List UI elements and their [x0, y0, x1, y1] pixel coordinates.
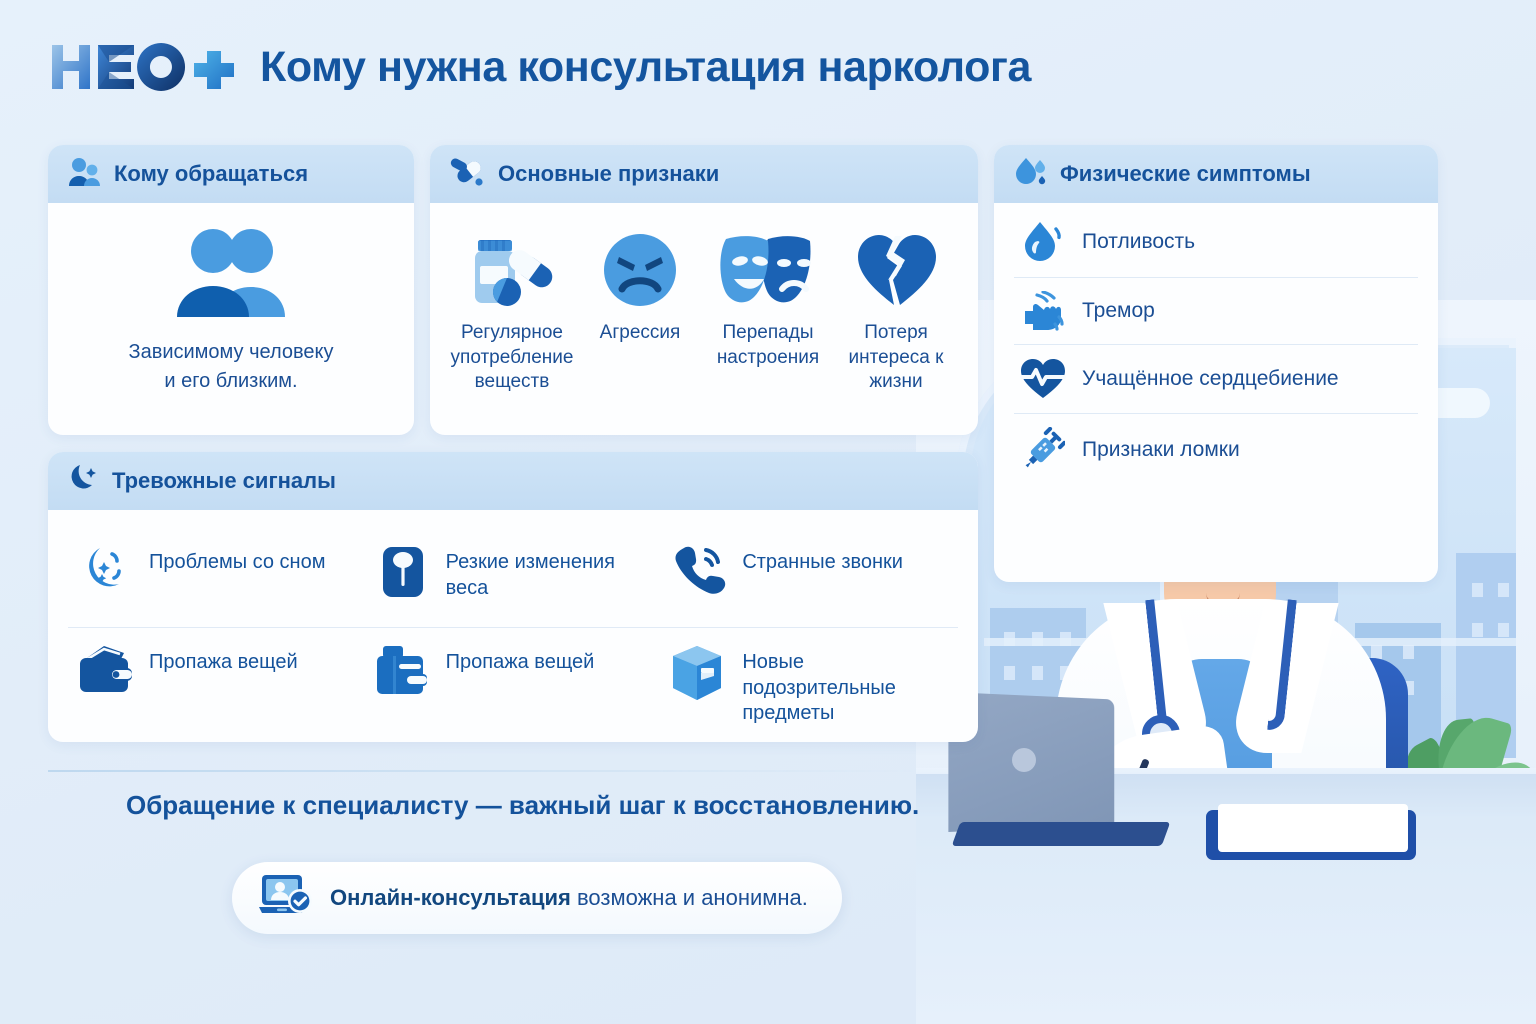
- sign-label: Потеря интереса к жизни: [834, 321, 958, 395]
- card-title: Кому обращаться: [114, 161, 308, 187]
- card-header: Основные признаки: [430, 145, 978, 203]
- shaking-hand-icon: [1020, 291, 1066, 331]
- symptom-label: Потливость: [1082, 229, 1195, 255]
- badge-label-rest: возможна и анонимна.: [571, 885, 808, 910]
- sign-label: Регулярное употребление веществ: [450, 321, 574, 395]
- sign-item: Регулярное употребление веществ: [450, 227, 574, 395]
- office-chair: [1212, 658, 1408, 848]
- wallet-icon: [76, 642, 136, 696]
- moon-icon: [68, 463, 100, 500]
- plant-leaf: [1450, 747, 1536, 844]
- pill-bottle-icon: [466, 227, 558, 313]
- window-mullion: [984, 638, 1516, 646]
- stethoscope-icon: [1267, 599, 1297, 732]
- purse-icon: [373, 642, 433, 698]
- city-building: [990, 608, 1086, 758]
- laptop-logo: [1012, 748, 1036, 772]
- warning-item: Резкие изменения веса: [365, 528, 662, 628]
- theatre-masks-icon: [718, 227, 818, 313]
- signs-grid: Регулярное употребление веществ Агрессия: [450, 221, 958, 395]
- symptom-row: Тремор: [1014, 278, 1418, 345]
- page-title: Кому нужна консультация нарколога: [260, 43, 1031, 92]
- symptom-label: Признаки ломки: [1082, 437, 1240, 463]
- broken-heart-icon: [854, 227, 938, 313]
- page-header: Кому нужна консультация нарколога: [48, 36, 1031, 98]
- warning-label: Пропажа вещей: [446, 642, 595, 676]
- symptom-row: Учащённое сердцебиение: [1014, 345, 1418, 414]
- pen-icon: [1117, 758, 1150, 826]
- card-who-to-contact: Кому обращаться Зависимому человеку и ег…: [48, 145, 414, 435]
- card-text: Зависимому человеку и его близким.: [129, 338, 334, 396]
- wristwatch-icon: [1256, 821, 1278, 855]
- laptop-base: [952, 822, 1171, 846]
- badge-label: Онлайн-консультация возможна и анонимна.: [330, 885, 808, 911]
- warning-label: Новые подозрительные предметы: [742, 642, 942, 727]
- card-main-signs: Основные признаки: [430, 145, 978, 435]
- symptom-row: Признаки ломки: [1014, 414, 1418, 486]
- warning-label: Проблемы со сном: [149, 542, 325, 576]
- plant-pot: [1428, 808, 1514, 874]
- warning-item: Пропажа вещей: [365, 628, 662, 742]
- droplet-icon: [1020, 220, 1066, 264]
- pills-icon: [450, 157, 486, 192]
- symptom-row: Потливость: [1014, 207, 1418, 278]
- people-group-icon: [165, 225, 297, 322]
- card-body: Зависимому человеку и его близким.: [48, 203, 414, 414]
- people-icon: [68, 157, 102, 192]
- card-title: Основные признаки: [498, 161, 719, 187]
- package-box-icon: [669, 642, 729, 702]
- badge-label-bold: Онлайн-консультация: [330, 885, 571, 910]
- card-header: Физические симптомы: [994, 145, 1438, 203]
- warning-item: Проблемы со сном: [68, 528, 365, 628]
- city-building: [1220, 578, 1338, 758]
- card-title: Физические симптомы: [1060, 161, 1311, 187]
- footer-divider: [48, 770, 916, 772]
- symptom-label: Тремор: [1082, 298, 1155, 324]
- doctor-coat: [1056, 599, 1386, 849]
- card-title: Тревожные сигналы: [112, 468, 336, 494]
- doctor-hand: [1266, 821, 1352, 867]
- plant-leaf: [1431, 709, 1513, 824]
- stethoscope-icon: [1145, 599, 1175, 732]
- sign-item: Агрессия: [578, 227, 702, 395]
- desk: [916, 774, 1536, 1024]
- doctor-hand: [1106, 819, 1178, 863]
- moon-sleep-icon: [76, 542, 136, 600]
- warning-item: Новые подозрительные предметы: [661, 628, 958, 742]
- sign-item: Перепады настроения: [706, 227, 830, 395]
- warning-grid: Проблемы со сном Резкие изменения веса: [68, 528, 958, 742]
- city-building: [1100, 658, 1166, 758]
- warning-label: Резкие изменения веса: [446, 542, 646, 601]
- desk-edge: [916, 768, 1536, 794]
- doctor-neck: [1188, 603, 1252, 663]
- card-body: Потливость Тремор: [994, 203, 1438, 504]
- doctor-arm: [1082, 724, 1237, 862]
- city-building: [1456, 553, 1516, 758]
- clipboard-paper: [1218, 804, 1408, 852]
- card-warning-signals: Тревожные сигналы Проблемы со сном: [48, 452, 978, 742]
- online-consult-icon: [258, 873, 314, 924]
- card-body: Регулярное употребление веществ Агрессия: [430, 203, 978, 413]
- card-physical-symptoms: Физические симптомы Потливость: [994, 145, 1438, 582]
- plant-leaf: [1391, 736, 1477, 840]
- sign-label: Перепады настроения: [706, 321, 830, 370]
- doctor-shirt: [1168, 659, 1272, 849]
- card-body: Проблемы со сном Резкие изменения веса: [48, 510, 978, 742]
- sign-label: Агрессия: [600, 321, 681, 346]
- online-consultation-badge[interactable]: Онлайн-консультация возможна и анонимна.: [232, 862, 842, 934]
- warning-label: Пропажа вещей: [149, 642, 298, 676]
- warning-item: Пропажа вещей: [68, 628, 365, 742]
- warning-label: Странные звонки: [742, 542, 903, 576]
- card-header: Тревожные сигналы: [48, 452, 978, 510]
- stethoscope-bell-icon: [1142, 715, 1180, 753]
- angry-face-icon: [601, 227, 679, 313]
- warning-item: Странные звонки: [661, 528, 958, 628]
- phone-call-icon: [669, 542, 729, 600]
- syringe-icon: [1020, 427, 1066, 473]
- card-header: Кому обращаться: [48, 145, 414, 203]
- sign-item: Потеря интереса к жизни: [834, 227, 958, 395]
- weight-scale-icon: [373, 542, 433, 600]
- heart-pulse-icon: [1020, 358, 1066, 400]
- plant-leaf: [1434, 718, 1482, 798]
- brand-logo: [48, 36, 238, 98]
- footer-statement: Обращение к специалисту — важный шаг к в…: [126, 790, 919, 821]
- clipboard: [1206, 810, 1416, 860]
- water-drops-icon: [1014, 156, 1048, 193]
- symptom-label: Учащённое сердцебиение: [1082, 366, 1339, 392]
- city-building: [1355, 623, 1441, 758]
